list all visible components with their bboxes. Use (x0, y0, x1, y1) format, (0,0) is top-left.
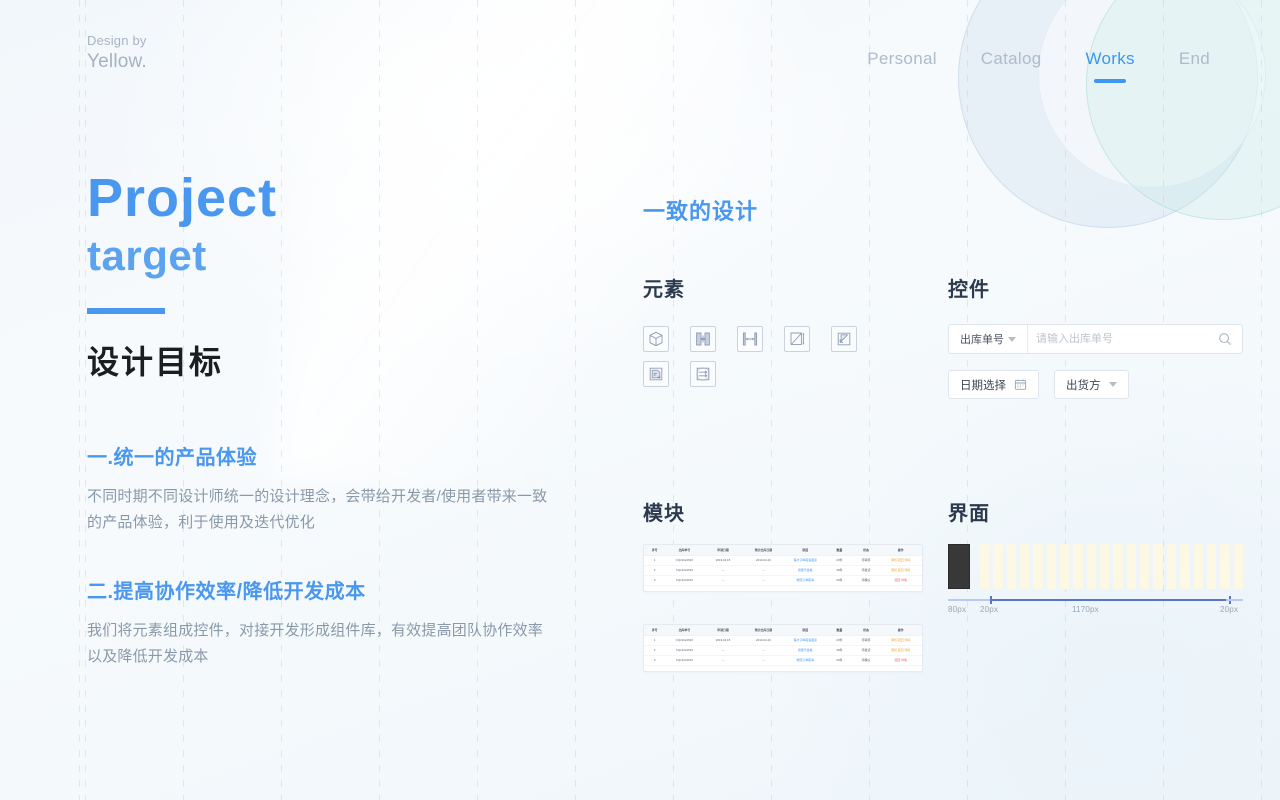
search-type-select[interactable]: 出库单号 (949, 325, 1028, 353)
table-cell-actions[interactable]: 审核 驳回 详情 (879, 638, 922, 643)
nav-item-label: Catalog (981, 49, 1042, 68)
table-cell: 2019-04-19 (743, 558, 785, 563)
module-table-thumbnail[interactable]: 序号 出库单号 申请日期 预计出库日期 原因 数量 状态 操作 1 CQ1912… (643, 624, 923, 672)
table-cell: 1 (644, 638, 665, 643)
calendar-icon (1014, 378, 1027, 391)
table-cell: 待审核 (853, 558, 880, 563)
nav-item-label: End (1179, 49, 1210, 68)
spec-bar-group (948, 544, 1243, 589)
table-header-cell: 状态 (853, 548, 880, 553)
table-cell: 待确认 (853, 578, 880, 583)
table-header-cell: 数量 (826, 628, 853, 633)
content-block-1-body: 不同时期不同设计师统一的设计理念，会带给开发者/使用者带来一致的产品体验，利于使… (87, 484, 557, 536)
right-section-title: 一致的设计 (643, 196, 1243, 228)
nav-item-works[interactable]: Works (1063, 47, 1156, 71)
table-cell: -- (743, 648, 785, 653)
table-cell: -- (704, 578, 743, 583)
table-cell-actions[interactable]: 驳回 详情 (879, 658, 922, 663)
brand-tagline: Design by (87, 32, 147, 50)
shipper-select-label: 出货方 (1066, 377, 1101, 393)
table-cell: 20件 (826, 558, 853, 563)
ruler-label-1170px: 1170px (1072, 605, 1099, 614)
widget-button-row: 日期选择 出货方 (948, 370, 1243, 399)
right-content-column: 一致的设计 元素 (643, 196, 1243, 228)
spec-grid-column (1234, 544, 1243, 589)
table-header-cell: 预计出库日期 (743, 628, 785, 633)
panel-widgets: 控件 出库单号 日期选择 (948, 276, 1243, 399)
table-cell: -- (704, 658, 743, 663)
table-cell: CQ19121916 (665, 658, 703, 663)
spec-column-group (980, 544, 1243, 589)
content-block-2-body: 我们将元素组成控件，对接开发形成组件库，有效提高团队协作效率以及降低开发成本 (87, 618, 557, 670)
table-header-cell: 出库单号 (665, 548, 703, 553)
spec-grid-column (1127, 544, 1136, 589)
search-submit-button[interactable] (1208, 325, 1242, 353)
spec-grid-column (993, 544, 1002, 589)
table-row[interactable]: 3 CQ19121916 -- -- 物流订单取消 60件 待确认 驳回 详情 (644, 656, 922, 666)
content-block-1: 一.统一的产品体验 不同时期不同设计师统一的设计理念，会带给开发者/使用者带来一… (87, 444, 557, 536)
spec-grid-column (1073, 544, 1082, 589)
table-cell: 2019-04-19 (743, 638, 785, 643)
collapse-horizontal-icon[interactable] (690, 326, 716, 352)
page-title-en-line2: target (87, 230, 557, 282)
table-cell: 物流订单取消 (784, 578, 826, 583)
table-row[interactable]: 2 CQ19121916 -- -- 质量不合格 30件 待发货 审核 驳回 详… (644, 646, 922, 656)
date-picker-button[interactable]: 日期选择 (948, 370, 1039, 399)
content-block-2: 二.提高协作效率/降低开发成本 我们将元素组成控件，对接开发形成组件库，有效提高… (87, 578, 557, 670)
table-cell-actions[interactable]: 审核 驳回 详情 (879, 648, 922, 653)
table-cell: 2 (644, 648, 665, 653)
import-arrow-icon[interactable] (831, 326, 857, 352)
brand-name: Yellow. (87, 50, 147, 74)
table-cell: 3 (644, 578, 665, 583)
table-row[interactable]: 2 CQ19121916 -- -- 质量不合格 30件 待发货 审核 驳回 详… (644, 566, 922, 576)
spec-grid-column (1007, 544, 1016, 589)
table-header-cell: 数量 (826, 548, 853, 553)
search-bar: 出库单号 (948, 324, 1243, 354)
table-cell: 待发货 (853, 648, 880, 653)
shipper-select-button[interactable]: 出货方 (1054, 370, 1129, 399)
table-cell: CQ19121916 (665, 568, 703, 573)
spec-sidebar-block (948, 544, 970, 589)
page-title-en-line1: Project (87, 168, 557, 228)
table-cell: 60件 (826, 658, 853, 663)
table-header-cell: 原因 (784, 628, 826, 633)
date-picker-label: 日期选择 (960, 377, 1006, 393)
title-divider-rule (87, 308, 165, 314)
panel-elements: 元素 (643, 276, 933, 387)
table-cell: 质量不合格 (784, 568, 826, 573)
nav-item-catalog[interactable]: Catalog (959, 47, 1064, 71)
chevron-down-icon (1008, 337, 1016, 342)
ruler-label-80px: 80px (948, 605, 966, 614)
spec-grid-column (1100, 544, 1109, 589)
table-cell: 物流订单取消 (784, 658, 826, 663)
ruler-line-right (1226, 599, 1243, 601)
panel-modules: 模块 序号 出库单号 申请日期 预计出库日期 原因 数量 状态 操作 1 CQ1… (643, 500, 933, 672)
spec-grid-column (1153, 544, 1162, 589)
element-icon-grid (643, 326, 933, 387)
table-cell: -- (704, 568, 743, 573)
chevron-down-icon (1109, 382, 1117, 387)
table-row[interactable]: 1 CQ19121916 2019.04.15 2019-04-19 客户订单取… (644, 556, 922, 566)
nav-item-label: Personal (867, 49, 937, 68)
main-navigation: Personal Catalog Works End (845, 47, 1232, 71)
spec-grid-column (1220, 544, 1229, 589)
spec-grid-column (1207, 544, 1216, 589)
page-header: Design by Yellow. Personal Catalog Works… (0, 0, 1280, 110)
panel-widgets-title: 控件 (948, 276, 1243, 304)
spec-grid-column (980, 544, 989, 589)
table-header-cell: 操作 (879, 628, 922, 633)
table-cell: 30件 (826, 648, 853, 653)
table-cell-actions[interactable]: 审核 驳回 详情 (879, 558, 922, 563)
brand-block: Design by Yellow. (87, 32, 147, 74)
module-table-thumbnail[interactable]: 序号 出库单号 申请日期 预计出库日期 原因 数量 状态 操作 1 CQ1912… (643, 544, 923, 592)
page-title-cn: 设计目标 (87, 342, 557, 382)
spec-grid-column (1167, 544, 1176, 589)
table-cell: -- (743, 658, 785, 663)
table-cell: 待审核 (853, 638, 880, 643)
table-header-cell: 操作 (879, 548, 922, 553)
table-header-cell: 原因 (784, 548, 826, 553)
left-content-column: Project target 设计目标 一.统一的产品体验 不同时期不同设计师统… (87, 168, 557, 670)
table-cell: 1 (644, 558, 665, 563)
ruler-line-content (992, 599, 1231, 601)
table-cell: 30件 (826, 568, 853, 573)
ruler-label-20px-right: 20px (1220, 605, 1238, 614)
spec-grid-column (1020, 544, 1029, 589)
table-header-row: 序号 出库单号 申请日期 预计出库日期 原因 数量 状态 操作 (644, 545, 922, 556)
table-cell: 2 (644, 568, 665, 573)
ruler-label-20px-left: 20px (980, 605, 998, 614)
spec-grid-column (1113, 544, 1122, 589)
spec-grid-column (1194, 544, 1203, 589)
table-cell: 3 (644, 658, 665, 663)
spec-grid-column (1033, 544, 1042, 589)
table-header-cell: 申请日期 (704, 548, 743, 553)
panel-interface: 界面 80px 20px 1170px 20px (948, 500, 1243, 617)
spec-grid-column (1047, 544, 1056, 589)
spec-grid-column (1060, 544, 1069, 589)
table-cell: 20件 (826, 638, 853, 643)
nav-item-label: Works (1085, 49, 1134, 68)
nav-item-end[interactable]: End (1157, 47, 1232, 71)
nav-active-underline (1094, 79, 1126, 83)
table-cell: -- (704, 648, 743, 653)
spec-measurement-ruler: 80px 20px 1170px 20px (948, 595, 1243, 617)
cube-icon[interactable] (643, 326, 669, 352)
diagonal-measure-icon[interactable] (784, 326, 810, 352)
table-header-cell: 序号 (644, 628, 665, 633)
table-header-cell: 申请日期 (704, 628, 743, 633)
table-header-cell: 序号 (644, 548, 665, 553)
spec-grid-column (1140, 544, 1149, 589)
table-cell: 客户订单取消退货 (784, 558, 826, 563)
table-cell: -- (743, 568, 785, 573)
table-cell: CQ19121916 (665, 578, 703, 583)
ruler-line-sidebar (948, 599, 990, 601)
search-input[interactable] (1028, 325, 1208, 353)
table-row[interactable]: 1 CQ19121916 2019.04.15 2019-04-19 客户订单取… (644, 636, 922, 646)
table-cell: 2019.04.15 (704, 638, 743, 643)
table-cell-actions[interactable]: 审核 驳回 详情 (879, 568, 922, 573)
magnifier-icon (1218, 332, 1232, 346)
table-cell: 待发货 (853, 568, 880, 573)
table-cell: CQ19121916 (665, 638, 703, 643)
table-cell-actions[interactable]: 驳回 详情 (879, 578, 922, 583)
panel-modules-title: 模块 (643, 500, 933, 528)
transfer-arrows-icon[interactable] (690, 361, 716, 387)
table-cell: 客户订单取消退货 (784, 638, 826, 643)
table-cell: 质量不合格 (784, 648, 826, 653)
table-header-cell: 状态 (853, 628, 880, 633)
search-type-label: 出库单号 (960, 331, 1004, 347)
table-cell: CQ19121916 (665, 558, 703, 563)
table-cell: 60件 (826, 578, 853, 583)
table-cell: CQ19121916 (665, 648, 703, 653)
content-block-1-heading: 一.统一的产品体验 (87, 444, 557, 472)
expand-horizontal-icon[interactable] (737, 326, 763, 352)
table-header-row: 序号 出库单号 申请日期 预计出库日期 原因 数量 状态 操作 (644, 625, 922, 636)
table-cell: -- (743, 578, 785, 583)
document-export-icon[interactable] (643, 361, 669, 387)
spec-grid-column (1087, 544, 1096, 589)
table-header-cell: 出库单号 (665, 628, 703, 633)
table-header-cell: 预计出库日期 (743, 548, 785, 553)
panel-interface-title: 界面 (948, 500, 1243, 528)
panel-elements-title: 元素 (643, 276, 933, 304)
spec-grid-column (1180, 544, 1189, 589)
table-row[interactable]: 3 CQ19121916 -- -- 物流订单取消 60件 待确认 驳回 详情 (644, 576, 922, 586)
content-block-2-heading: 二.提高协作效率/降低开发成本 (87, 578, 557, 606)
table-cell: 待确认 (853, 658, 880, 663)
table-cell: 2019.04.15 (704, 558, 743, 563)
interface-spec-diagram: 80px 20px 1170px 20px (948, 544, 1243, 617)
nav-item-personal[interactable]: Personal (845, 47, 959, 71)
